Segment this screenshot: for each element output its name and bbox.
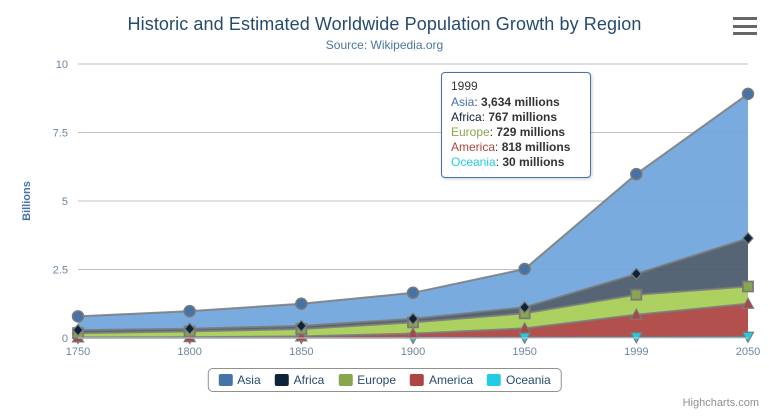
y-tick-label: 7.5 (53, 128, 68, 140)
legend-label: America (429, 373, 473, 387)
x-tick-label: 1950 (512, 346, 536, 358)
chart-plot-area: 02.557.510 Billions 17501800185019001950… (0, 0, 769, 416)
marker-asia[interactable] (743, 88, 754, 99)
x-tick-label: 1900 (401, 346, 425, 358)
legend-item-oceania[interactable]: Oceania (487, 373, 551, 387)
legend-label: Africa (294, 373, 325, 387)
y-tick-label: 0 (62, 333, 68, 345)
tooltip-series-value: 767 millions (488, 110, 557, 124)
legend-swatch-icon (275, 374, 289, 386)
tooltip-series-value: 30 millions (502, 155, 564, 169)
x-tick-label: 1850 (289, 346, 313, 358)
legend-label: Europe (357, 373, 396, 387)
y-axis-title: Billions (21, 181, 33, 221)
tooltip-series-name: Oceania (451, 155, 496, 169)
tooltip-series-value: 729 millions (496, 125, 565, 139)
x-tick-label: 2050 (736, 346, 760, 358)
marker-asia[interactable] (519, 263, 530, 274)
tooltip-series-name: Africa (451, 110, 482, 124)
legend-item-africa[interactable]: Africa (275, 373, 325, 387)
legend-swatch-icon (487, 374, 501, 386)
legend-label: Asia (237, 373, 260, 387)
tooltip-series-name: America (451, 140, 495, 154)
x-tick-label: 1999 (624, 346, 648, 358)
marker-asia[interactable] (73, 311, 84, 322)
tooltip-rows: Asia: 3,634 millionsAfrica: 767 millions… (451, 95, 581, 170)
legend-item-europe[interactable]: Europe (338, 373, 396, 387)
marker-europe[interactable] (631, 290, 641, 300)
marker-europe[interactable] (743, 281, 753, 291)
tooltip-row: Asia: 3,634 millions (451, 95, 581, 110)
y-tick-label: 10 (56, 59, 68, 71)
tooltip-series-name: Europe (451, 125, 490, 139)
legend-swatch-icon (338, 374, 352, 386)
legend-swatch-icon (410, 374, 424, 386)
marker-asia[interactable] (408, 287, 419, 298)
tooltip-series-value: 818 millions (502, 140, 571, 154)
marker-asia[interactable] (631, 169, 642, 180)
tooltip-row: Europe: 729 millions (451, 125, 581, 140)
tooltip-separator: : (495, 140, 502, 154)
x-tick-label: 1750 (66, 346, 90, 358)
legend: AsiaAfricaEuropeAmericaOceania (207, 368, 561, 392)
y-axis-title-text: Billions (21, 181, 33, 221)
tooltip-header: 1999 (451, 79, 581, 93)
marker-asia[interactable] (184, 306, 195, 317)
legend-item-america[interactable]: America (410, 373, 473, 387)
tooltip-row: America: 818 millions (451, 140, 581, 155)
x-tick-label: 1800 (177, 346, 201, 358)
y-axis-tick-labels: 02.557.510 (53, 59, 68, 345)
marker-asia[interactable] (296, 298, 307, 309)
series-areas (78, 94, 748, 338)
y-tick-label: 2.5 (53, 265, 68, 277)
tooltip-row: Africa: 767 millions (451, 110, 581, 125)
tooltip-separator: : (474, 95, 481, 109)
legend-label: Oceania (506, 373, 551, 387)
credits-label: Highcharts.com (683, 397, 759, 409)
tooltip-series-name: Asia (451, 95, 474, 109)
tooltip-series-value: 3,634 millions (481, 95, 560, 109)
legend-swatch-icon (218, 374, 232, 386)
x-axis-tick-labels: 1750180018501900195019992050 (66, 346, 760, 358)
highcharts-chart: Historic and Estimated Worldwide Populat… (0, 0, 769, 416)
y-tick-label: 5 (62, 196, 68, 208)
tooltip: 1999 Asia: 3,634 millionsAfrica: 767 mil… (441, 72, 591, 178)
tooltip-row: Oceania: 30 millions (451, 155, 581, 170)
legend-item-asia[interactable]: Asia (218, 373, 260, 387)
